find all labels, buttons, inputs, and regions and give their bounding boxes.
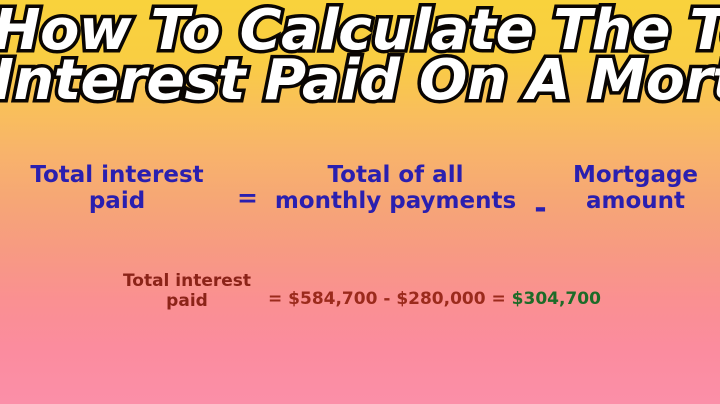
formula-term-total-monthly-payments: Total of all monthly payments [271, 163, 521, 215]
calc-equation: = $584,700 - $280,000 = $304,700 [262, 272, 601, 309]
slide-canvas: How To Calculate The Total Interest Paid… [0, 0, 720, 404]
formula-equals-operator: = [225, 163, 271, 210]
calc-label-total-interest-paid: Total interest paid [112, 272, 262, 311]
calc-result-value: $304,700 [512, 289, 601, 309]
formula-minus-operator: - [521, 163, 561, 224]
formula-term-mortgage-amount: Mortgage amount [561, 163, 711, 215]
formula-term-total-interest-paid: Total interest paid [10, 163, 225, 215]
page-title: How To Calculate The Total Interest Paid… [0, 4, 720, 109]
worked-example: Total interest paid = $584,700 - $280,00… [0, 272, 720, 332]
formula-equation: Total interest paid = Total of all month… [0, 163, 720, 227]
calc-equation-prefix: = $584,700 - $280,000 = [268, 289, 512, 309]
title-line-2: Interest Paid On A Mortgage [0, 54, 720, 108]
